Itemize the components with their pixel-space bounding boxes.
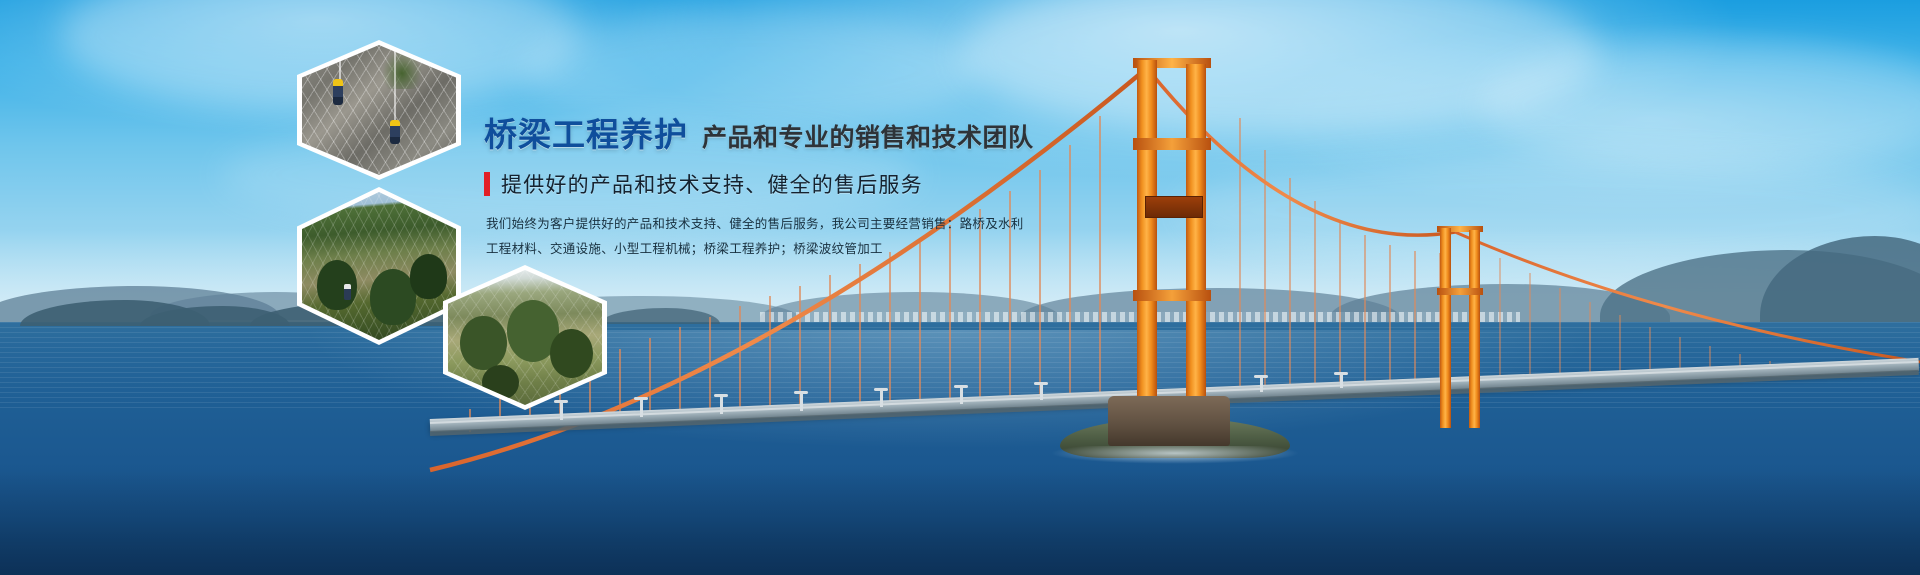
bridge-tower-crossbeam [1133, 290, 1211, 301]
deck-lamp [880, 388, 883, 407]
photo-detail-worker [333, 79, 343, 105]
body-line: 我们始终为客户提供好的产品和技术支持、健全的售后服务，我公司主要经营销售：路桥及… [486, 215, 906, 234]
bridge-tower-far-left-leg [1440, 228, 1451, 428]
body-line: 工程材料、交通设施、小型工程机械；桥梁工程养护；桥梁波纹管加工 [486, 240, 906, 259]
headline-primary: 桥梁工程养护 [484, 116, 688, 153]
hex-photo-hillside[interactable] [302, 192, 456, 340]
banner-headline: 桥梁工程养护产品和专业的销售和技术团队 [484, 118, 1124, 151]
deck-lamp [720, 394, 723, 414]
hex-photo-slope[interactable] [448, 270, 602, 405]
photo-detail-shrub [460, 316, 506, 370]
banner-body-copy: 我们始终为客户提供好的产品和技术支持、健全的售后服务，我公司主要经营销售：路桥及… [486, 215, 906, 260]
photo-detail-worker [344, 284, 351, 300]
bridge-cable-system [0, 0, 1920, 575]
deck-lamp [1040, 382, 1043, 400]
accent-bar [484, 172, 490, 196]
bridge-tower-sign [1145, 196, 1203, 218]
photo-detail-rope [394, 45, 396, 126]
bridge-tower-main-left-leg [1137, 60, 1157, 420]
banner-text-panel: 桥梁工程养护产品和专业的销售和技术团队 提供好的产品和技术支持、健全的售后服务 … [484, 118, 1124, 266]
deck-lamp [1340, 372, 1343, 388]
subline-text: 提供好的产品和技术支持、健全的售后服务 [501, 169, 923, 199]
photo-detail-shrub [550, 329, 593, 378]
pier-water-wash [1050, 446, 1300, 464]
bridge-tower-crossbeam [1133, 138, 1211, 150]
photo-detail-tree [410, 254, 447, 298]
deck-lamp [800, 391, 803, 411]
bridge-tower-main-right-leg [1186, 64, 1206, 420]
deck-lamp [640, 397, 643, 417]
bridge-tower-far-right-leg [1469, 230, 1480, 428]
deck-lamp [960, 385, 963, 404]
photo-detail-worker [390, 120, 400, 144]
suspension-bridge [0, 0, 1920, 575]
hero-banner: 桥梁工程养护产品和专业的销售和技术团队 提供好的产品和技术支持、健全的售后服务 … [0, 0, 1920, 575]
deck-lamp [1260, 375, 1263, 392]
hex-photo-rockface[interactable] [302, 45, 456, 175]
photo-detail-tree [317, 260, 357, 310]
banner-subline: 提供好的产品和技术支持、健全的售后服务 [484, 169, 1124, 199]
bridge-pier [1108, 396, 1230, 446]
bridge-tower-far-crossbeam [1437, 288, 1483, 295]
headline-secondary: 产品和专业的销售和技术团队 [702, 124, 1034, 152]
